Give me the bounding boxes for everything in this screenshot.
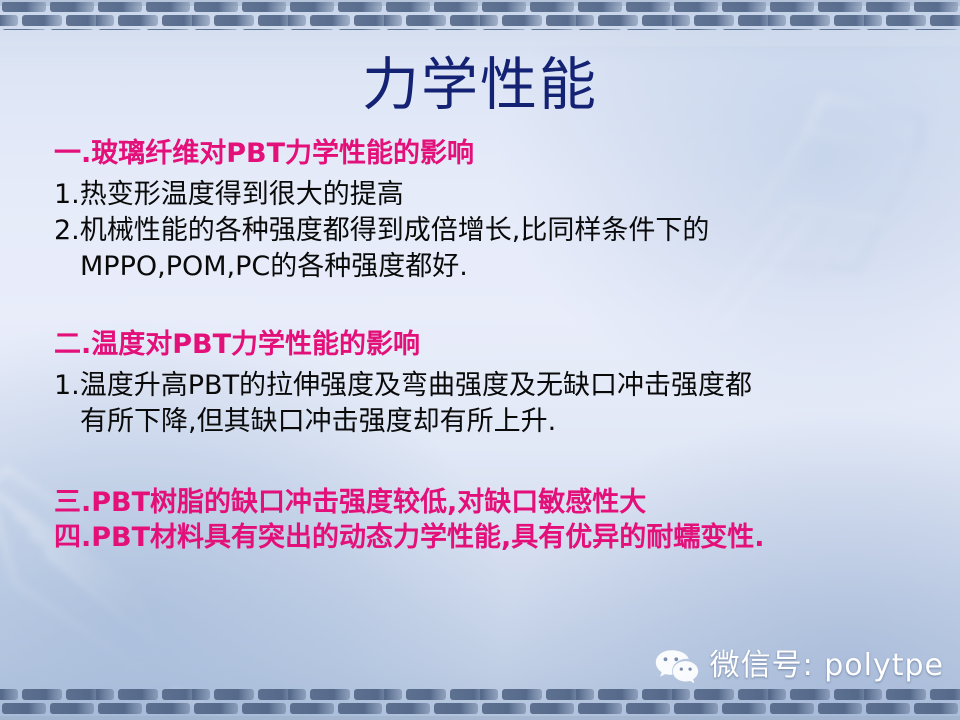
slide-body: 一.玻璃纤维对PBT力学性能的影响 1.热变形温度得到很大的提高 2.机械性能的… xyxy=(54,136,934,555)
wechat-icon xyxy=(654,648,700,684)
section-2-line-1: 1.温度升高PBT的拉伸强度及弯曲强度及无缺口冲击强度都 xyxy=(54,368,934,404)
wechat-label: 微信号: polytpe xyxy=(710,651,944,681)
section-2-line-2: 有所下降,但其缺口冲击强度却有所上升. xyxy=(54,404,934,440)
section-1-line-2: 2.机械性能的各种强度都得到成倍增长,比同样条件下的 xyxy=(54,213,934,249)
slide-canvas: 力学性能 一.玻璃纤维对PBT力学性能的影响 1.热变形温度得到很大的提高 2.… xyxy=(0,0,960,720)
wechat-watermark: 微信号: polytpe xyxy=(654,648,944,684)
section-1-line-1: 1.热变形温度得到很大的提高 xyxy=(54,177,934,213)
section-heading-3: 三.PBT树脂的缺口冲击强度较低,对缺口敏感性大 xyxy=(54,485,934,520)
section-heading-1: 一.玻璃纤维对PBT力学性能的影响 xyxy=(54,136,934,171)
section-1-line-3: MPPO,POM,PC的各种强度都好. xyxy=(54,249,934,285)
top-brick-border xyxy=(0,0,960,46)
section-heading-4: 四.PBT材料具有突出的动态力学性能,具有优异的耐蠕变性. xyxy=(54,520,934,555)
slide-title: 力学性能 xyxy=(0,56,960,116)
section-heading-2: 二.温度对PBT力学性能的影响 xyxy=(54,327,934,362)
